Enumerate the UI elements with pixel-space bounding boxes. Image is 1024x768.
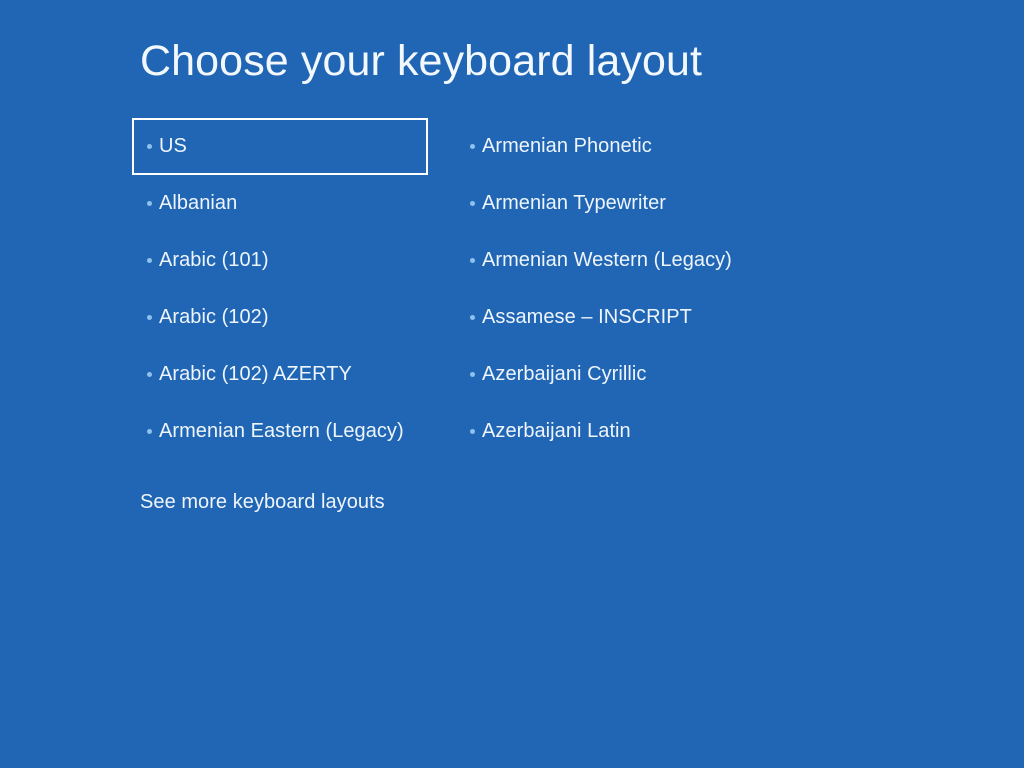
layout-option-arabic-102-azerty[interactable]: Arabic (102) AZERTY bbox=[132, 346, 428, 403]
layout-column-left: US Albanian Arabic (101) Arabic (102) Ar… bbox=[132, 118, 428, 460]
see-more-keyboard-layouts-link[interactable]: See more keyboard layouts bbox=[140, 491, 385, 514]
layout-option-arabic-102[interactable]: Arabic (102) bbox=[132, 289, 428, 346]
bullet-icon bbox=[147, 144, 152, 149]
layout-option-label: Albanian bbox=[159, 192, 237, 215]
layout-option-label: Armenian Eastern (Legacy) bbox=[159, 420, 404, 443]
bullet-icon bbox=[147, 372, 152, 377]
layout-option-label: Azerbaijani Cyrillic bbox=[482, 363, 646, 386]
layout-option-label: Armenian Typewriter bbox=[482, 192, 666, 215]
bullet-icon bbox=[470, 201, 475, 206]
layout-option-label: Arabic (102) AZERTY bbox=[159, 363, 352, 386]
bullet-icon bbox=[470, 315, 475, 320]
layout-option-azerbaijani-latin[interactable]: Azerbaijani Latin bbox=[455, 403, 785, 460]
bullet-icon bbox=[147, 315, 152, 320]
bullet-icon bbox=[147, 429, 152, 434]
layout-column-right: Armenian Phonetic Armenian Typewriter Ar… bbox=[455, 118, 785, 460]
keyboard-layout-list: US Albanian Arabic (101) Arabic (102) Ar… bbox=[0, 0, 1024, 768]
layout-option-assamese-inscript[interactable]: Assamese – INSCRIPT bbox=[455, 289, 785, 346]
layout-option-label: Armenian Phonetic bbox=[482, 135, 652, 158]
bullet-icon bbox=[470, 372, 475, 377]
layout-option-label: Armenian Western (Legacy) bbox=[482, 249, 732, 272]
bullet-icon bbox=[470, 429, 475, 434]
keyboard-layout-screen: Choose your keyboard layout US Albanian … bbox=[0, 0, 1024, 768]
layout-option-label: Arabic (102) bbox=[159, 306, 269, 329]
layout-option-arabic-101[interactable]: Arabic (101) bbox=[132, 232, 428, 289]
layout-option-us[interactable]: US bbox=[132, 118, 428, 175]
layout-option-armenian-eastern-legacy[interactable]: Armenian Eastern (Legacy) bbox=[132, 403, 428, 460]
bullet-icon bbox=[470, 258, 475, 263]
bullet-icon bbox=[147, 258, 152, 263]
bullet-icon bbox=[147, 201, 152, 206]
layout-option-label: Assamese – INSCRIPT bbox=[482, 306, 692, 329]
layout-option-label: Azerbaijani Latin bbox=[482, 420, 631, 443]
layout-option-armenian-western-legacy[interactable]: Armenian Western (Legacy) bbox=[455, 232, 785, 289]
layout-option-albanian[interactable]: Albanian bbox=[132, 175, 428, 232]
layout-option-armenian-phonetic[interactable]: Armenian Phonetic bbox=[455, 118, 785, 175]
layout-option-azerbaijani-cyrillic[interactable]: Azerbaijani Cyrillic bbox=[455, 346, 785, 403]
layout-option-label: US bbox=[159, 135, 187, 158]
bullet-icon bbox=[470, 144, 475, 149]
layout-option-label: Arabic (101) bbox=[159, 249, 269, 272]
layout-option-armenian-typewriter[interactable]: Armenian Typewriter bbox=[455, 175, 785, 232]
